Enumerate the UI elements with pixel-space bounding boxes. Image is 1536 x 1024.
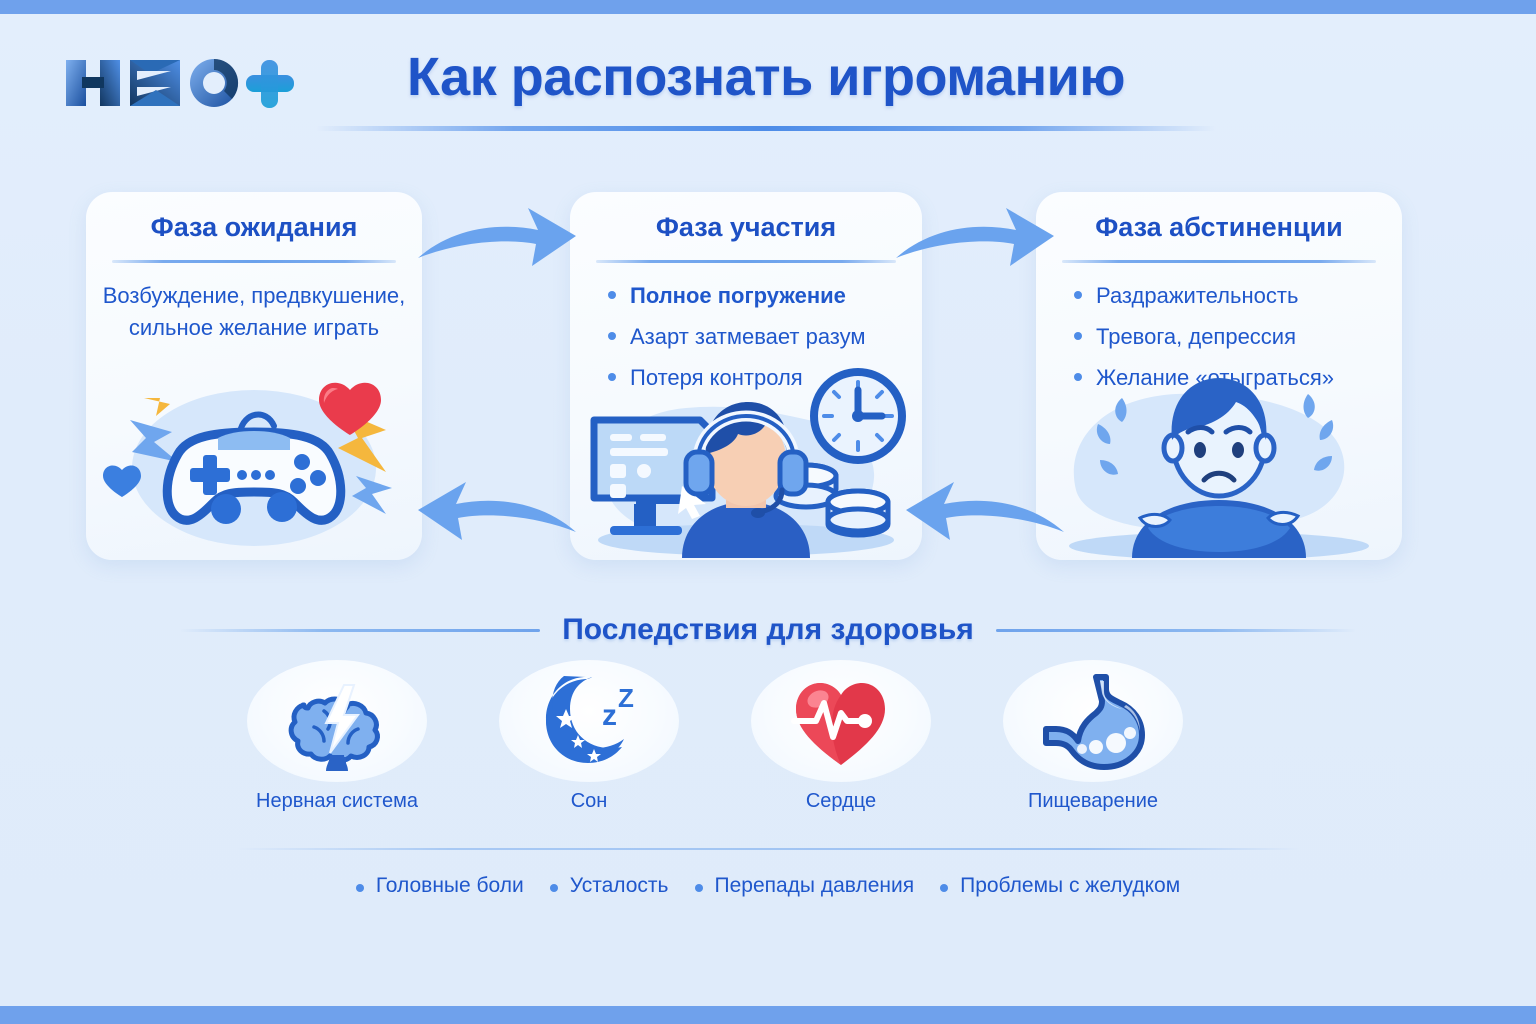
list-item: Азарт затмевает разум	[604, 321, 922, 362]
consequence-label: Сон	[484, 790, 694, 813]
heart-pulse-icon	[786, 671, 896, 771]
gamepad-icon	[86, 368, 422, 558]
phase-card-withdrawal[interactable]: Фаза абстиненции Раздражительность Трево…	[1036, 192, 1402, 560]
card-divider	[112, 260, 396, 263]
card-divider	[1062, 260, 1376, 263]
phase-card-title: Фаза ожидания	[86, 212, 422, 243]
gamepad-heart-illustration	[86, 368, 422, 558]
gamer-headset-clock-coins-illustration	[570, 368, 922, 558]
consequence-item-digestion[interactable]: Пищеварение	[988, 660, 1198, 830]
heading-rule-right	[996, 629, 1356, 632]
consequence-item-nervous-system[interactable]: Нервная система	[232, 660, 442, 830]
phase-card-title: Фаза абстиненции	[1036, 212, 1402, 243]
list-item: Полное погружение	[604, 280, 922, 321]
gamer-icon	[570, 368, 922, 558]
moon-zzz-icon: z Z	[534, 671, 644, 771]
infographic-poster: Как распознать игроманию Фаза ожидания В…	[0, 0, 1536, 1024]
consequence-label: Нервная система	[232, 790, 442, 813]
consequences-icon-row: Нервная система z Z Сон	[232, 660, 1198, 830]
arrow-right-icon	[890, 198, 1060, 270]
page-title: Как распознать игроманию	[316, 46, 1216, 108]
heading-rule-left	[180, 629, 540, 632]
symptom-list: Головные боли Усталость Перепады давлени…	[236, 862, 1300, 910]
brain-lightning-icon	[282, 671, 392, 771]
consequence-item-heart[interactable]: Сердце	[736, 660, 946, 830]
icon-blob: z Z	[499, 660, 679, 782]
icon-blob	[247, 660, 427, 782]
card-divider	[596, 260, 896, 263]
list-item: Головные боли	[356, 874, 524, 898]
list-item: Тревога, депрессия	[1070, 321, 1402, 362]
stomach-icon	[1038, 671, 1148, 771]
arrow-left-icon	[900, 472, 1070, 544]
arrow-phase3-to-phase2	[900, 472, 1070, 544]
list-item: Усталость	[550, 874, 669, 898]
neo-plus-logo-icon	[38, 44, 298, 114]
sad-person-icon	[1036, 368, 1402, 558]
brand-logo	[38, 44, 298, 114]
arrow-phase2-to-phase1	[412, 472, 582, 544]
list-item: Раздражительность	[1070, 280, 1402, 321]
phase-card-expectation[interactable]: Фаза ожидания Возбуждение, предвкушение,…	[86, 192, 422, 560]
svg-text:z: z	[602, 699, 617, 732]
icon-blob	[1003, 660, 1183, 782]
arrow-left-icon	[412, 472, 582, 544]
consequence-label: Сердце	[736, 790, 946, 813]
arrow-phase2-to-phase3	[890, 198, 1060, 270]
icon-blob	[751, 660, 931, 782]
consequence-item-sleep[interactable]: z Z Сон	[484, 660, 694, 830]
section-title: Последствия для здоровья	[562, 613, 974, 647]
symptoms-divider	[236, 848, 1300, 850]
svg-text:Z: Z	[618, 683, 634, 713]
phase-card-participation[interactable]: Фаза участия Полное погружение Азарт зат…	[570, 192, 922, 560]
phase-card-title: Фаза участия	[570, 212, 922, 243]
bottom-edge-bar	[0, 1006, 1536, 1024]
list-item: Проблемы с желудком	[940, 874, 1180, 898]
consequences-heading: Последствия для здоровья	[180, 606, 1356, 654]
list-item: Перепады давления	[695, 874, 915, 898]
phase-description: Возбуждение, предвкушение, сильное желан…	[86, 280, 422, 343]
consequence-label: Пищеварение	[988, 790, 1198, 813]
arrow-right-icon	[412, 198, 582, 270]
top-edge-bar	[0, 0, 1536, 14]
arrow-phase1-to-phase2	[412, 198, 582, 270]
sad-person-illustration	[1036, 368, 1402, 558]
title-underline	[316, 126, 1216, 131]
phase-card-body: Возбуждение, предвкушение, сильное желан…	[86, 280, 422, 343]
